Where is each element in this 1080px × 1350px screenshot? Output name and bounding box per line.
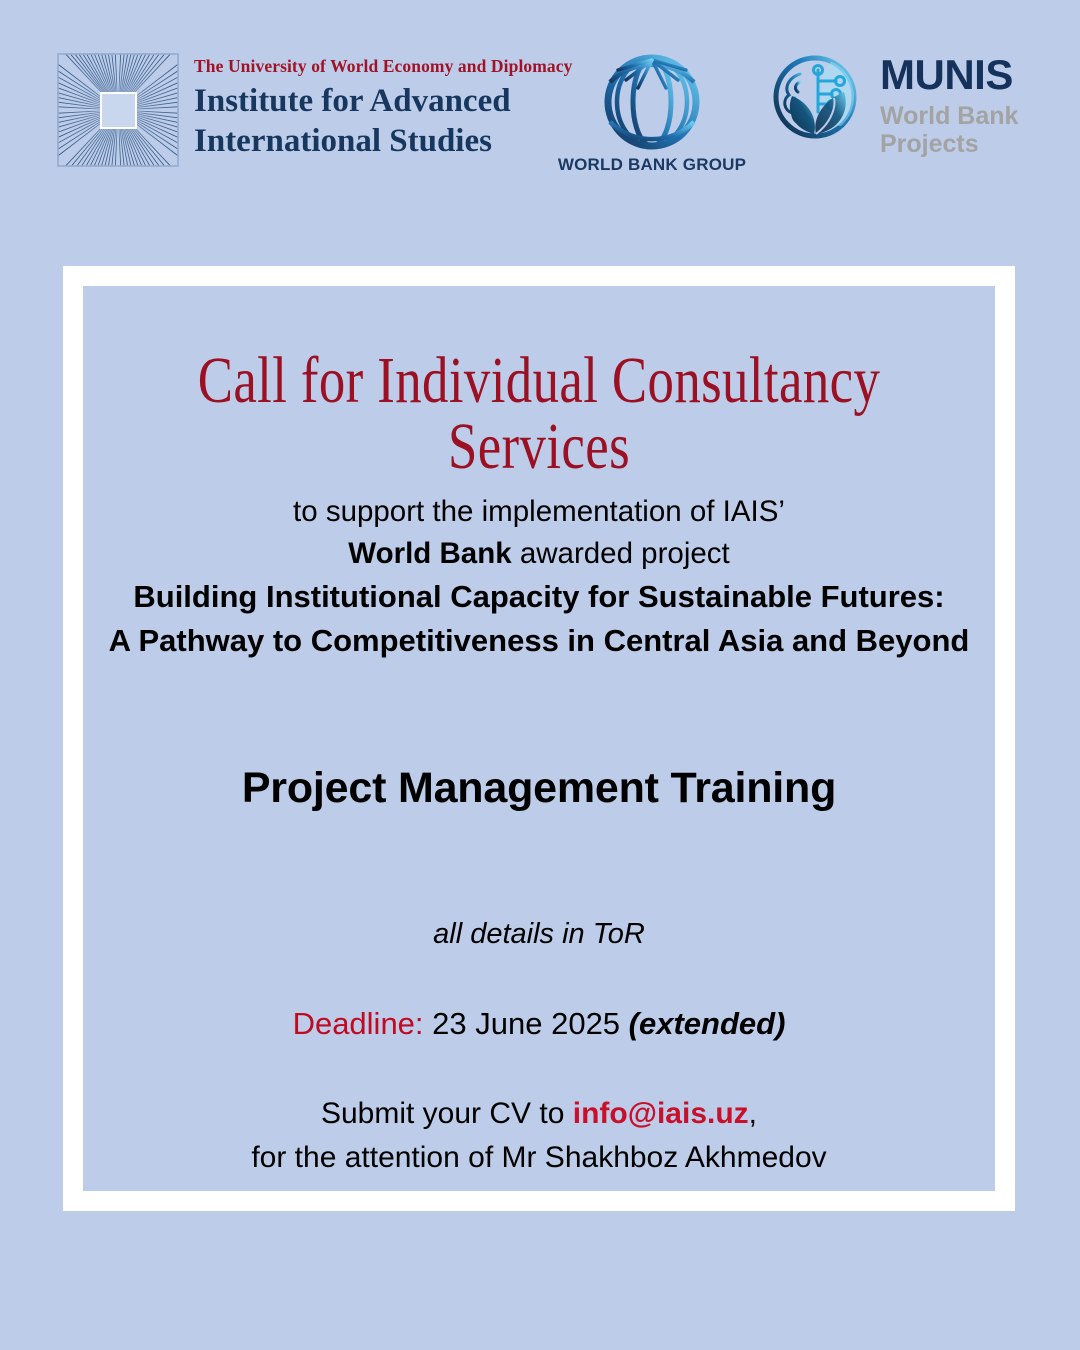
munis-subtitle-line-1: World Bank bbox=[880, 102, 1018, 130]
globe-icon bbox=[600, 52, 704, 152]
deadline-label: Deadline: bbox=[293, 1006, 424, 1041]
submit-suffix: , bbox=[749, 1097, 757, 1130]
submit-line-1: Submit your CV to info@iais.uz, bbox=[83, 1092, 995, 1136]
page-title: Call for Individual Consultancy Services bbox=[174, 348, 904, 480]
world-bank-logo: WORLD BANK GROUP bbox=[552, 52, 752, 175]
iais-wordmark: The University of World Economy and Dipl… bbox=[194, 58, 573, 162]
iais-institute-line-1: Institute for Advanced bbox=[194, 81, 573, 122]
subtitle-block: to support the implementation of IAIS’ W… bbox=[83, 491, 995, 663]
subtitle-line-2-rest: awarded project bbox=[512, 537, 730, 570]
lightbulb-brain-leaf-icon bbox=[762, 48, 868, 170]
submit-line-2: for the attention of Mr Shakhboz Akhmedo… bbox=[83, 1136, 995, 1180]
program-title: Project Management Training bbox=[83, 764, 995, 813]
deadline-date: 23 June 2025 bbox=[424, 1006, 629, 1041]
submit-instructions: Submit your CV to info@iais.uz, for the … bbox=[83, 1092, 995, 1179]
deadline-line: Deadline: 23 June 2025 (extended) bbox=[83, 1006, 995, 1042]
subtitle-line-2-bold: World Bank bbox=[348, 537, 511, 570]
munis-logo: MUNIS World Bank Projects bbox=[762, 48, 1018, 170]
iais-institute-line-2: International Studies bbox=[194, 121, 573, 162]
project-name-line-2: A Pathway to Competitiveness in Central … bbox=[83, 619, 995, 663]
email-link[interactable]: info@iais.uz bbox=[573, 1097, 749, 1130]
munis-wordmark: MUNIS World Bank Projects bbox=[880, 54, 1018, 158]
subtitle-line-1: to support the implementation of IAIS’ bbox=[83, 491, 995, 533]
munis-subtitle-line-2: Projects bbox=[880, 130, 1018, 158]
deadline-status-badge: (extended) bbox=[629, 1006, 786, 1041]
submit-prefix: Submit your CV to bbox=[321, 1097, 573, 1130]
iais-university-line: The University of World Economy and Dipl… bbox=[194, 58, 573, 76]
subtitle-line-2: World Bank awarded project bbox=[83, 533, 995, 575]
project-name-line-1: Building Institutional Capacity for Sust… bbox=[83, 575, 995, 619]
radial-burst-square-logo-icon bbox=[56, 53, 180, 167]
iais-logo: The University of World Economy and Dipl… bbox=[56, 53, 573, 167]
munis-title: MUNIS bbox=[880, 54, 1018, 96]
headline-line-1: Call for Individual Consultancy bbox=[174, 348, 904, 414]
headline-line-2: Services bbox=[174, 414, 904, 480]
poster-body: Call for Individual Consultancy Services… bbox=[83, 286, 995, 1191]
tor-note: all details in ToR bbox=[83, 918, 995, 951]
poster-frame: Call for Individual Consultancy Services… bbox=[63, 266, 1015, 1211]
world-bank-label: WORLD BANK GROUP bbox=[552, 155, 752, 175]
logo-bar: The University of World Economy and Dipl… bbox=[0, 40, 1080, 175]
